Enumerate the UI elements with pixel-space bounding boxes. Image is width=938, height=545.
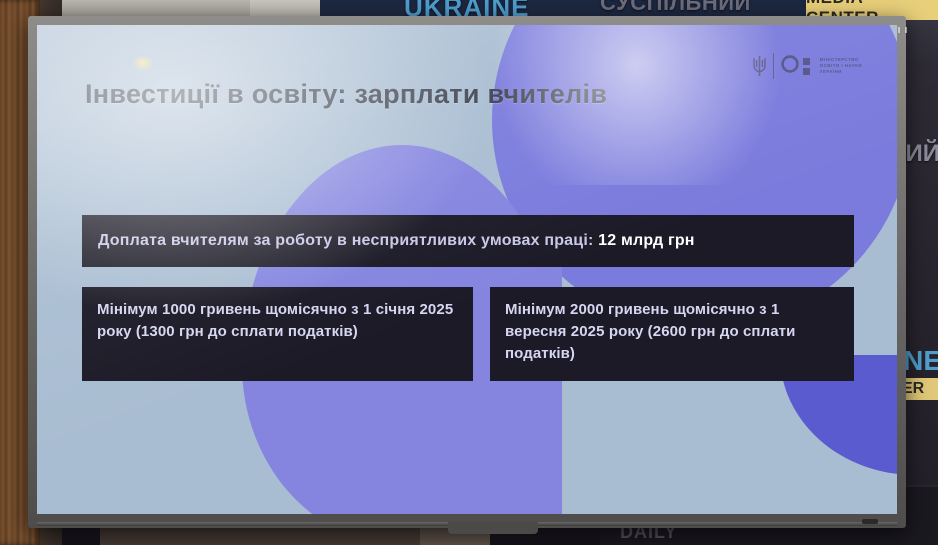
television-display: Інвестиції в освіту: зарплати вчителів xyxy=(28,16,906,528)
ministry-line-3: УКРАЇНИ xyxy=(820,69,862,75)
square-mark-icon xyxy=(803,58,810,75)
ukrainian-trident-icon xyxy=(752,55,767,77)
banner-text-highlight: 12 млрд грн xyxy=(598,232,695,249)
callout-box-right: Мінімум 2000 гривень щомісячно з 1 верес… xyxy=(490,287,854,381)
ministry-logo-text: МІНІСТЕРСТВО ОСВІТИ І НАУКИ УКРАЇНИ xyxy=(820,57,862,75)
callout-box-left-text: Мінімум 1000 гривень щомісячно з 1 січня… xyxy=(97,299,458,343)
callout-box-banner: Доплата вчителям за роботу в несприятлив… xyxy=(82,215,854,267)
tv-ir-sensor xyxy=(862,519,878,524)
callout-box-left: Мінімум 1000 гривень щомісячно з 1 січня… xyxy=(82,287,473,381)
logo-mark xyxy=(780,54,810,79)
tv-screen: Інвестиції в освіту: зарплати вчителів xyxy=(37,25,897,514)
callout-box-right-text: Мінімум 2000 гривень щомісячно з 1 верес… xyxy=(505,299,839,364)
tv-stand xyxy=(448,522,538,534)
banner-text-wrapper: Доплата вчителям за роботу в несприятлив… xyxy=(98,232,695,250)
sign-suspilne-right: ИЙ xyxy=(906,140,938,168)
circle-mark-icon xyxy=(780,54,800,79)
logo-divider xyxy=(773,53,774,79)
slide-title: Інвестиції в освіту: зарплати вчителів xyxy=(85,79,607,110)
sign-ukraine-right: NE xyxy=(903,345,938,377)
banner-text-main: Доплата вчителям за роботу в несприятлив… xyxy=(98,232,594,249)
presentation-slide: Інвестиції в освіту: зарплати вчителів xyxy=(37,25,897,514)
room-scene: UKRAINE СУСПІЛЬНИЙ MEDIA CENTER ИЙ NE ER… xyxy=(0,0,938,545)
ministry-logo: МІНІСТЕРСТВО ОСВІТИ І НАУКИ УКРАЇНИ xyxy=(752,53,862,79)
screen-reflection-dot xyxy=(132,55,154,71)
sign-suspilne-top: СУСПІЛЬНИЙ xyxy=(600,0,751,16)
